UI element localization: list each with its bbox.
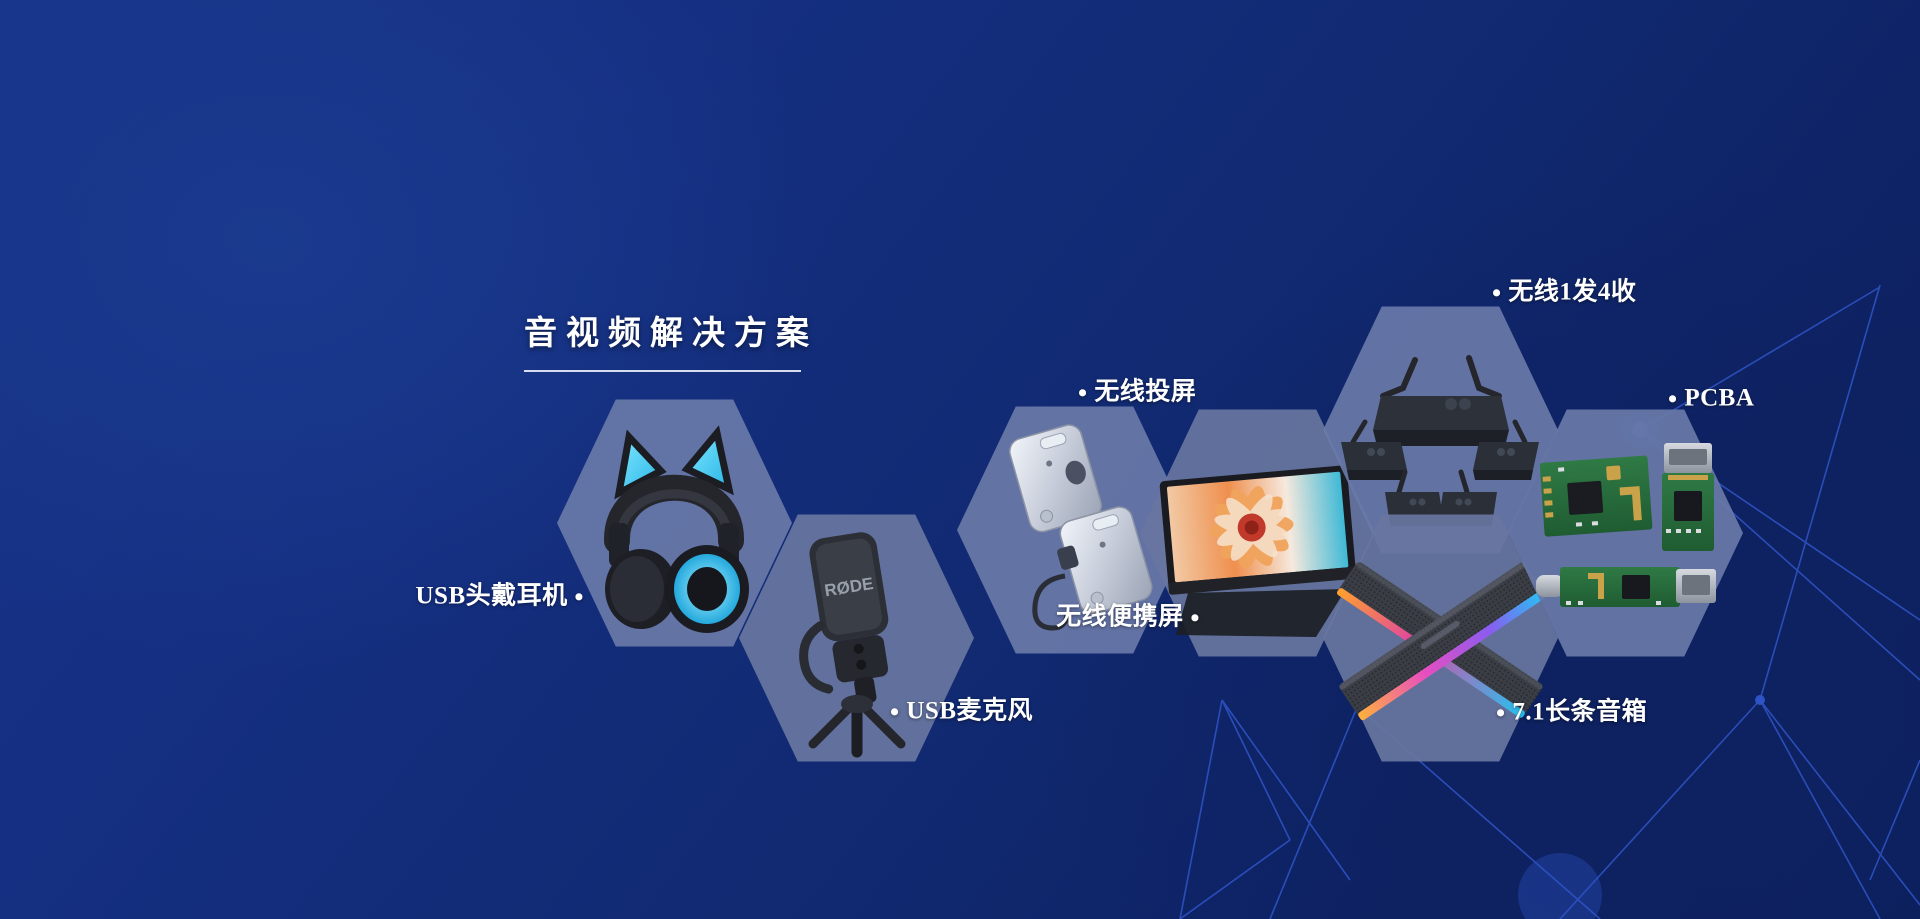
label-usb-microphone: • USB麦克风 xyxy=(890,698,1033,725)
page-title-text: 音视频解决方案 xyxy=(524,318,818,351)
bullet-dot: • xyxy=(1190,606,1200,632)
bullet-dot: • xyxy=(574,585,584,611)
bullet-dot: • xyxy=(890,700,900,726)
label-text: 7.1长条音箱 xyxy=(1512,698,1647,725)
hex-cell-pcba[interactable] xyxy=(1508,403,1743,663)
label-text: 无线1发4收 xyxy=(1508,278,1636,305)
hex-cell-usb-microphone[interactable]: RØDE xyxy=(739,508,974,768)
label-text: USB头戴耳机 xyxy=(416,582,568,609)
green-circuit-boards-image xyxy=(1508,403,1743,663)
bullet-dot: • xyxy=(1496,701,1506,727)
label-usb-headset: USB头戴耳机 • xyxy=(416,583,585,610)
label-text: PCBA xyxy=(1684,384,1754,411)
usb-condenser-microphone-image: RØDE xyxy=(739,508,974,768)
label-wireless-1t4r: • 无线1发4收 xyxy=(1492,279,1636,306)
label-text: 无线便携屏 xyxy=(1056,603,1184,630)
page-title-underline xyxy=(524,370,801,372)
label-wireless-casting: • 无线投屏 xyxy=(1078,379,1196,406)
bullet-dot: • xyxy=(1078,381,1088,407)
label-soundbar-71: • 7.1长条音箱 xyxy=(1496,699,1647,726)
bullet-dot: • xyxy=(1668,387,1678,413)
page-title: 音视频解决方案 xyxy=(524,318,818,372)
slide-canvas: 音视频解决方案 xyxy=(0,0,1920,919)
bullet-dot: • xyxy=(1492,281,1502,307)
label-pcba: • PCBA xyxy=(1668,385,1754,412)
label-portable-monitor: 无线便携屏 • xyxy=(1056,604,1200,631)
label-text: 无线投屏 xyxy=(1094,378,1196,405)
label-text: USB麦克风 xyxy=(906,697,1033,724)
